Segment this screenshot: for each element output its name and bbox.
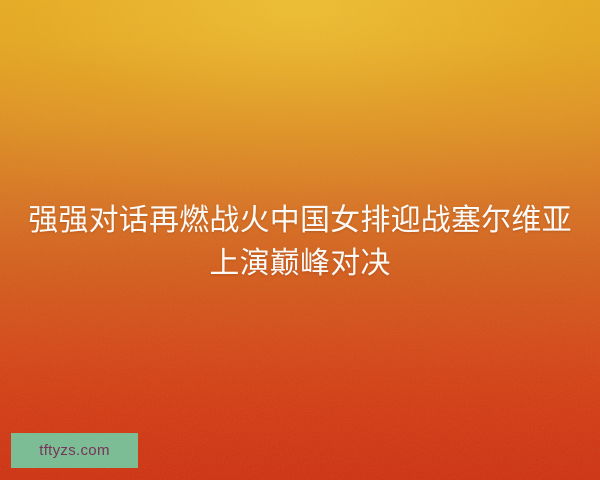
watermark-label: tftyzs.com — [39, 443, 110, 458]
watermark-badge[interactable]: tftyzs.com — [11, 433, 138, 468]
image-card: 强强对话再燃战火中国女排迎战塞尔维亚 上演巅峰对决 tftyzs.com — [0, 0, 600, 480]
background-gradient — [0, 0, 600, 480]
